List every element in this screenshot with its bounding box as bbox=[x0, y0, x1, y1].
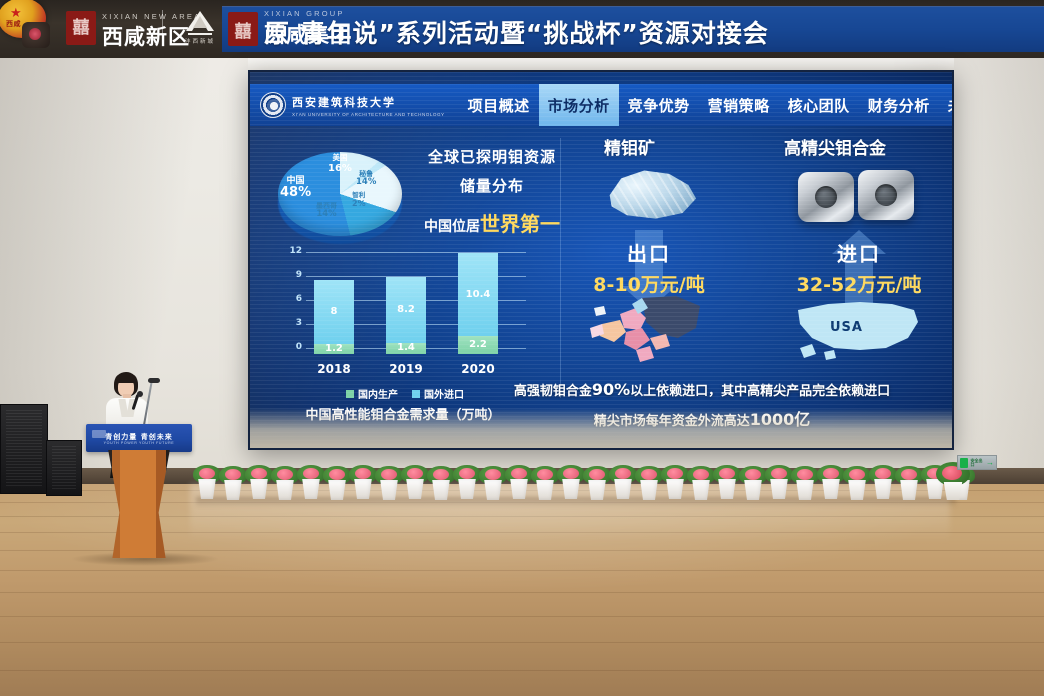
flower-vase bbox=[639, 480, 659, 500]
xixian-group-seal-icon: 囍 bbox=[228, 12, 258, 46]
flower-bloom bbox=[303, 468, 319, 479]
flower-vase bbox=[379, 480, 399, 500]
podium-slogan-sub: YOUTH POWER YOUTH FUTURE bbox=[86, 441, 192, 445]
lantern-icon bbox=[22, 22, 50, 48]
flower-bloom bbox=[381, 469, 397, 480]
flower-vase bbox=[821, 479, 841, 499]
led-scanlines bbox=[250, 72, 952, 448]
podium-front-panel: 青创力量 青创未来 YOUTH POWER YOUTH FUTURE bbox=[86, 424, 192, 452]
flower-vase bbox=[665, 479, 685, 499]
flower-vase bbox=[275, 480, 295, 500]
exit-sign-label: 安全出口 bbox=[970, 459, 984, 467]
top-banner-row: ★ 西咸 囍 XIXIAN NEW AREA 西咸新区 沣西新城 原·青年说”系… bbox=[0, 0, 1044, 58]
fengxi-logo-sub: 沣西新城 bbox=[180, 37, 220, 45]
pa-speaker-sub bbox=[46, 440, 82, 496]
exit-running-man-icon bbox=[960, 458, 968, 468]
flower-vase bbox=[587, 480, 607, 500]
speaker-podium: 青创力量 青创未来 YOUTH POWER YOUTH FUTURE bbox=[86, 424, 192, 558]
slide-bottom-fade bbox=[250, 408, 954, 448]
xixian-group-cn: 西咸集团 bbox=[264, 19, 352, 49]
flower-bloom bbox=[875, 468, 891, 479]
exit-arrow-icon: → bbox=[986, 459, 994, 467]
pa-speaker-main bbox=[0, 404, 48, 494]
flower-vase bbox=[769, 479, 789, 499]
flower-vase bbox=[327, 480, 347, 500]
flower-bloom bbox=[433, 469, 449, 480]
flower-bloom bbox=[225, 469, 241, 480]
flower-bloom bbox=[199, 468, 215, 479]
flower-bloom bbox=[823, 468, 839, 479]
flower-vase bbox=[249, 479, 269, 499]
flower-bloom bbox=[355, 468, 371, 479]
flower-vase bbox=[899, 480, 919, 500]
led-presentation-screen: 西安建筑科技大学 XI'AN UNIVERSITY OF ARCHITECTUR… bbox=[248, 70, 954, 450]
presenter-fringe bbox=[115, 374, 137, 383]
flower-vase bbox=[197, 479, 217, 499]
flower-bloom bbox=[329, 469, 345, 480]
flower-vase bbox=[483, 480, 503, 500]
flower-bloom bbox=[459, 468, 475, 479]
flower-bloom bbox=[407, 468, 423, 479]
flower-vase bbox=[847, 480, 867, 500]
flower-bloom bbox=[563, 468, 579, 479]
flower-bloom bbox=[485, 469, 501, 480]
flower-vase bbox=[613, 479, 633, 499]
flower-vase bbox=[691, 480, 711, 500]
podium-pedestal bbox=[104, 450, 174, 558]
flower-vase bbox=[509, 479, 529, 499]
xixian-seal-icon: 囍 bbox=[66, 11, 96, 45]
flower-bloom bbox=[719, 468, 735, 479]
logo-divider-1 bbox=[162, 10, 163, 46]
flower-vase bbox=[431, 480, 451, 500]
flower-bloom bbox=[901, 469, 917, 480]
flower-vase bbox=[561, 479, 581, 499]
flower-bloom bbox=[849, 469, 865, 480]
flower-bloom bbox=[537, 469, 553, 480]
microphone-stand-head bbox=[148, 378, 160, 383]
flower-vase bbox=[457, 479, 477, 499]
flower-vase bbox=[873, 479, 893, 499]
flower-bloom bbox=[797, 469, 813, 480]
fengxi-building-logo: 沣西新城 bbox=[180, 10, 220, 48]
xixian-group-en: XIXIAN GROUP bbox=[264, 9, 352, 18]
lantern-label: 西咸 bbox=[6, 19, 21, 29]
flower-vase bbox=[223, 480, 243, 500]
flower-vase bbox=[353, 479, 373, 499]
flower-bloom bbox=[667, 468, 683, 479]
flower-bloom bbox=[589, 469, 605, 480]
lantern-flower-icon bbox=[29, 28, 41, 40]
flower-bloom bbox=[771, 468, 787, 479]
flower-bloom bbox=[641, 469, 657, 480]
flower-vase bbox=[535, 480, 555, 500]
xixian-logo-cn: 西咸新区 bbox=[102, 21, 190, 51]
microphone-head-icon bbox=[137, 391, 143, 397]
flower-vase bbox=[717, 479, 737, 499]
screenshot-root: ★ 西咸 囍 XIXIAN NEW AREA 西咸新区 沣西新城 原·青年说”系… bbox=[0, 0, 1044, 696]
flower-bloom bbox=[745, 469, 761, 480]
corner-plant-vase bbox=[942, 482, 964, 500]
flower-bloom bbox=[511, 468, 527, 479]
slide-canvas: 西安建筑科技大学 XI'AN UNIVERSITY OF ARCHITECTUR… bbox=[250, 72, 952, 448]
emergency-exit-sign: 安全出口 → bbox=[957, 455, 997, 470]
flower-bloom bbox=[693, 469, 709, 480]
flower-bloom bbox=[615, 468, 631, 479]
flower-bloom bbox=[277, 469, 293, 480]
flower-bloom bbox=[251, 468, 267, 479]
flower-vase bbox=[743, 480, 763, 500]
xixian-group-logo-overlay: 囍 XIXIAN GROUP 西咸集团 bbox=[228, 8, 352, 50]
flower-vase bbox=[405, 479, 425, 499]
decorative-lanterns: ★ 西咸 bbox=[0, 0, 70, 58]
flower-pot-row bbox=[196, 452, 956, 500]
flower-vase bbox=[795, 480, 815, 500]
flower-vase bbox=[301, 479, 321, 499]
ceiling-light-glow bbox=[248, 58, 954, 70]
xixian-group-text: XIXIAN GROUP 西咸集团 bbox=[264, 9, 352, 49]
